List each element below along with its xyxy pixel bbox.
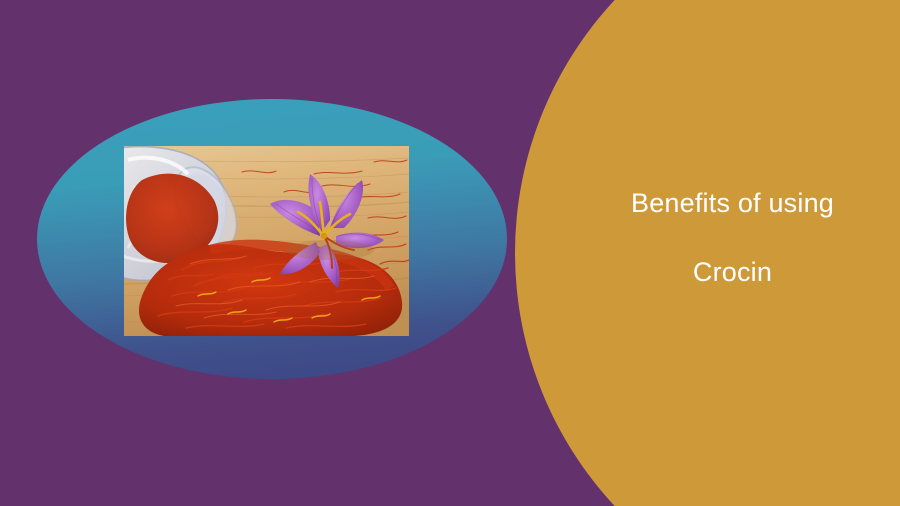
page-title-line-1: Benefits of using (560, 186, 900, 220)
saffron-photo (124, 146, 409, 336)
saffron-photo-canvas (124, 146, 409, 336)
slide-canvas: Benefits of using Crocin (0, 0, 900, 506)
title-block: Benefits of using Crocin (560, 186, 900, 289)
page-title-line-2: Crocin (560, 255, 900, 289)
